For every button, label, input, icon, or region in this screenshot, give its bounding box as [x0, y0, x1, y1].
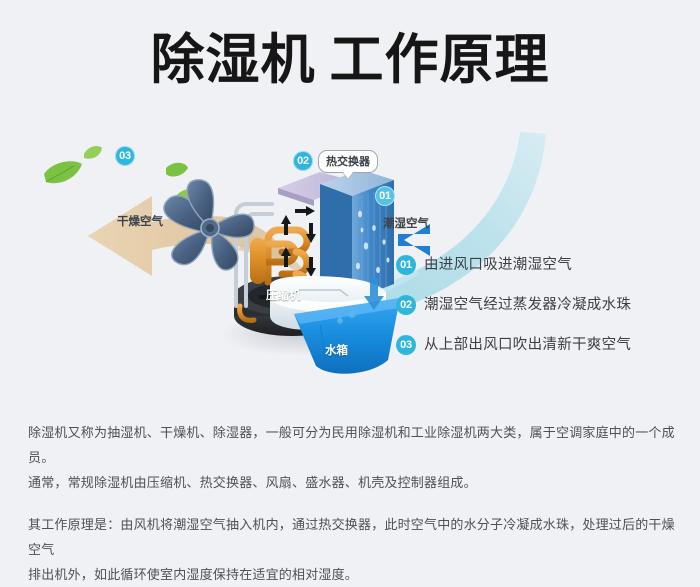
- legend-item: 03 从上部出风口吹出清新干爽空气: [396, 335, 696, 355]
- legend-badge: 01: [396, 255, 416, 275]
- description-p2-l1: 其工作原理是：由风机将潮湿空气抽入机内，通过热交换器，此时空气中的水分子冷凝成水…: [28, 512, 676, 562]
- page-title-part1: 除湿机: [151, 30, 316, 90]
- leaf-icon-3: [166, 163, 188, 177]
- compressor-cylinder: [250, 238, 266, 284]
- label-compressor: 压缩机: [266, 287, 301, 303]
- legend-text: 从上部出风口吹出清新干爽空气: [424, 335, 631, 355]
- badge-humid-air: 01: [375, 186, 395, 206]
- description-p1-l2: 通常，常规除湿机由压缩机、热交换器、风扇、盛水器、机壳及控制器组成。: [28, 470, 676, 495]
- badge-heat-exchanger: 02: [293, 151, 313, 171]
- legend-item: 01 由进风口吸进潮湿空气: [396, 255, 696, 275]
- page-title: 除湿机工作原理: [0, 28, 700, 92]
- page-root: 除湿机工作原理: [0, 0, 700, 566]
- legend-text: 潮湿空气经过蒸发器冷凝成水珠: [424, 295, 631, 315]
- page-title-part2: 工作原理: [330, 30, 550, 90]
- label-water-tank: 水箱: [325, 342, 348, 358]
- paragraph-gap: [28, 495, 676, 512]
- leaf-icon: [44, 161, 82, 183]
- description-block: 除湿机又称为抽湿机、干燥机、除湿器，一般可分为民用除湿机和工业除湿机两大类，属于…: [28, 420, 676, 587]
- label-humid-air: 潮湿空气: [383, 215, 429, 231]
- legend-item: 02 潮湿空气经过蒸发器冷凝成水珠: [396, 295, 696, 315]
- description-p1-l1: 除湿机又称为抽湿机、干燥机、除湿器，一般可分为民用除湿机和工业除湿机两大类，属于…: [28, 420, 676, 470]
- legend-badge: 02: [396, 295, 416, 315]
- badge-dry-air: 03: [115, 146, 135, 166]
- label-dry-air: 干燥空气: [117, 213, 163, 229]
- legend-list: 01 由进风口吸进潮湿空气 02 潮湿空气经过蒸发器冷凝成水珠 03 从上部出风…: [396, 255, 696, 375]
- label-heat-exchanger: 热交换器: [318, 150, 378, 173]
- legend-badge: 03: [396, 335, 416, 355]
- legend-text: 由进风口吸进潮湿空气: [424, 255, 572, 275]
- leaf-icon-2: [84, 146, 102, 159]
